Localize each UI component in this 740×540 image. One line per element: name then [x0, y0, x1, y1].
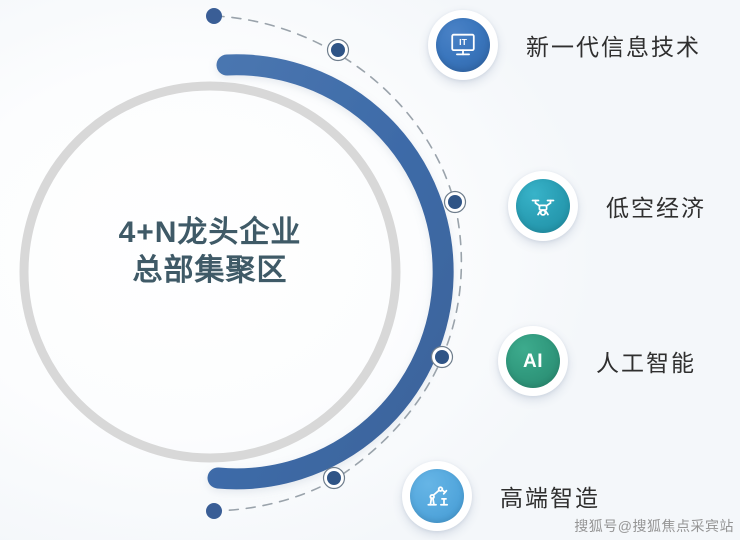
node-label: 高端智造	[500, 479, 600, 513]
watermark: 搜狐号@搜狐焦点采宾站	[574, 516, 734, 536]
ai-label: AI	[523, 352, 543, 371]
center-title: 4+N龙头企业 总部集聚区	[60, 214, 360, 291]
ai-text-icon: AI	[506, 334, 560, 388]
path-waypoint-marker	[324, 468, 345, 489]
node-badge[interactable]	[400, 459, 474, 533]
svg-text:IT: IT	[459, 37, 467, 47]
robot-arm-icon	[410, 469, 464, 523]
node-badge[interactable]	[506, 169, 580, 243]
center-title-line-2: 总部集聚区	[60, 252, 360, 290]
path-endpoint-dot-top	[206, 8, 222, 24]
path-waypoint-marker	[445, 192, 466, 213]
node-artificial-intelligence[interactable]: AI 人工智能	[496, 324, 696, 398]
node-new-gen-it[interactable]: IT 新一代信息技术	[426, 8, 701, 82]
infographic-canvas: 4+N龙头企业 总部集聚区 IT 新一代信息技术	[0, 0, 740, 540]
node-label: 新一代信息技术	[526, 28, 701, 62]
node-high-end-manufacturing[interactable]: 高端智造	[400, 459, 600, 533]
monitor-it-icon: IT	[436, 18, 490, 72]
node-badge[interactable]: IT	[426, 8, 500, 82]
node-badge[interactable]: AI	[496, 324, 570, 398]
path-waypoint-marker	[432, 347, 453, 368]
path-endpoint-dot-bottom	[206, 503, 222, 519]
node-label: 人工智能	[596, 344, 696, 378]
drone-icon	[516, 179, 570, 233]
center-title-line-1: 4+N龙头企业	[60, 214, 360, 252]
node-label: 低空经济	[606, 189, 706, 223]
path-waypoint-marker	[328, 40, 349, 61]
node-low-altitude-economy[interactable]: 低空经济	[506, 169, 706, 243]
